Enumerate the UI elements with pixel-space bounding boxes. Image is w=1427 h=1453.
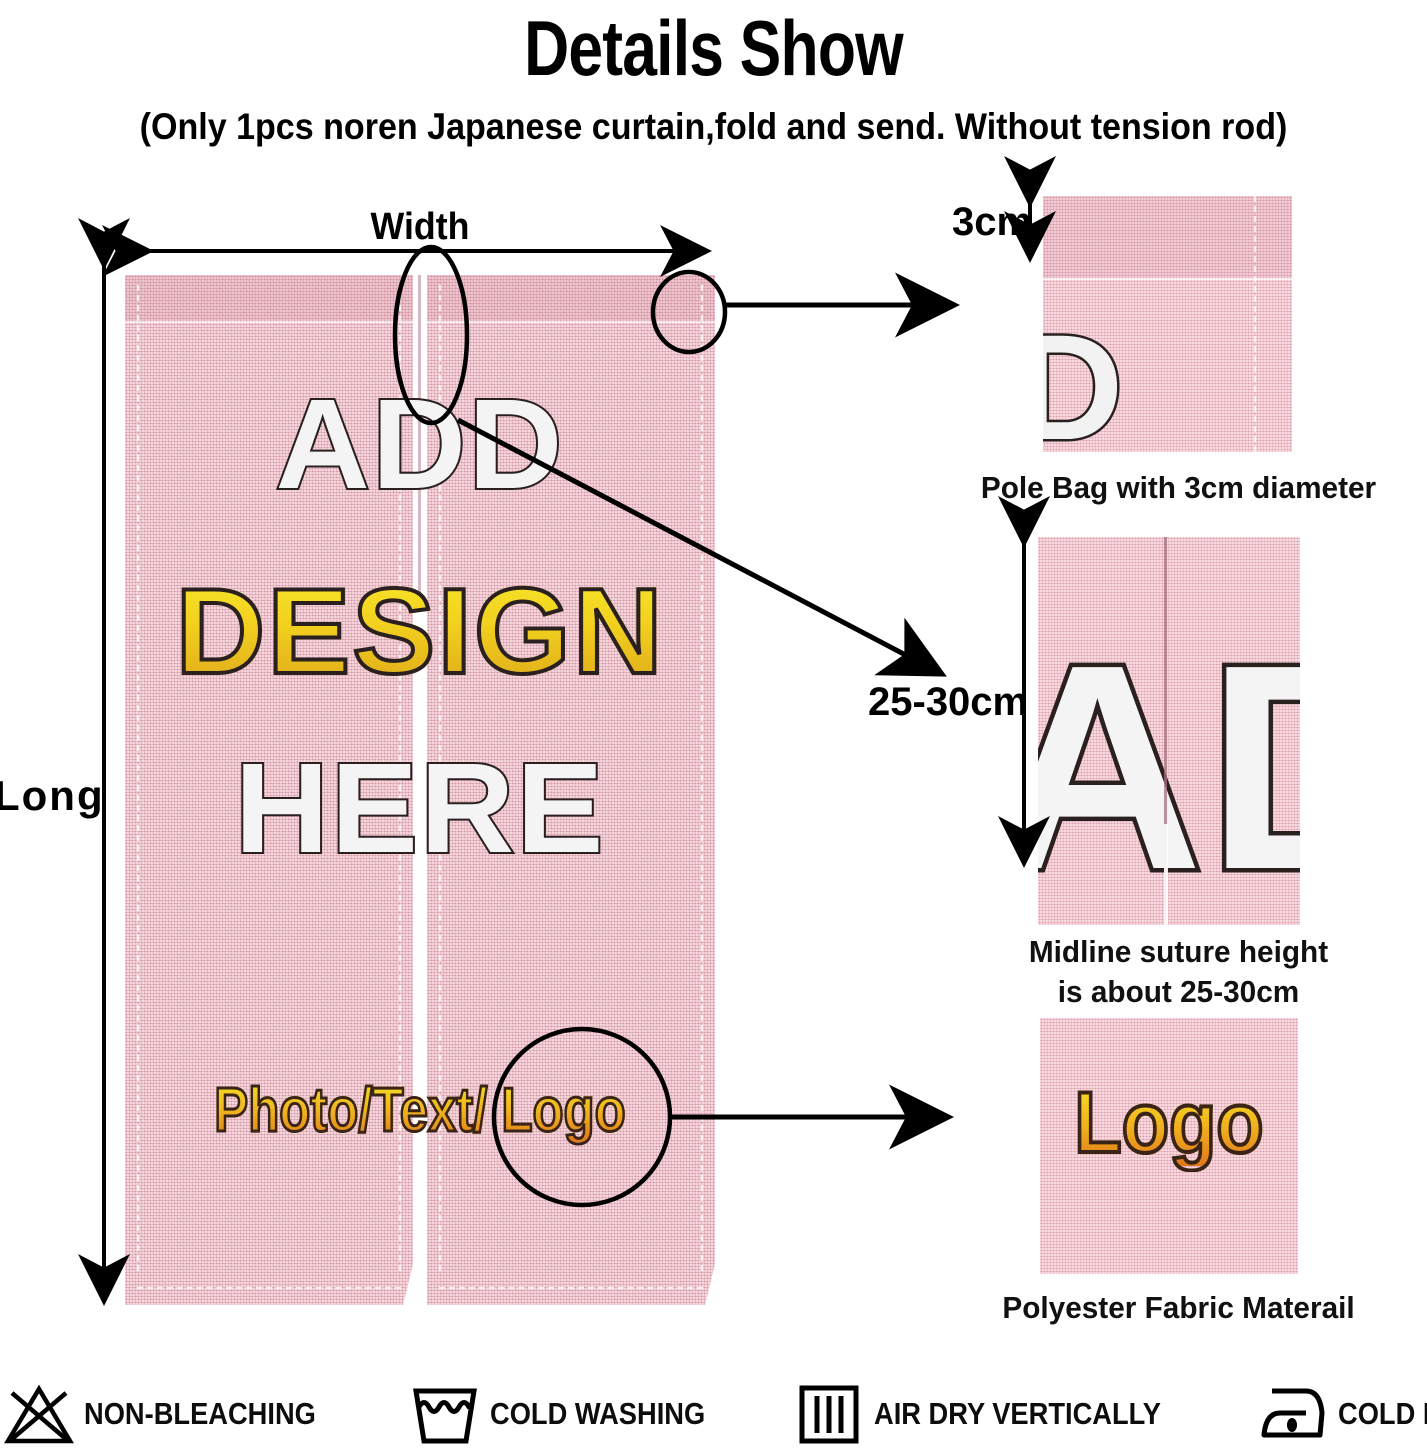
- stitch-line-right: [701, 285, 703, 1271]
- page-subtitle: (Only 1pcs noren Japanese curtain,fold a…: [57, 104, 1370, 150]
- care-instructions-row: NON-BLEACHING COLD WASHING AIR DRY VERTI…: [0, 1378, 1427, 1450]
- letter-fragment: D: [1043, 312, 1123, 452]
- pole-bag-depth-label: 3cm: [952, 200, 1032, 245]
- detail-midline-suture-image: ADD: [1038, 537, 1300, 925]
- pole-bag-seam: [427, 321, 715, 323]
- page-title: Details Show: [143, 4, 1285, 92]
- curtain-left-panel: [125, 275, 413, 1305]
- stitch-line-bottom: [439, 1287, 703, 1289]
- care-item-cold-ironing: COLD IRONING: [1258, 1378, 1427, 1450]
- detail-caption-fabric-material: Polyester Fabric Materail: [940, 1288, 1417, 1328]
- width-label: Width: [25, 206, 815, 249]
- pole-bag-band: [125, 275, 413, 321]
- detail-caption-pole-bag: Pole Bag with 3cm diameter: [940, 468, 1417, 508]
- cold-washing-icon: [410, 1383, 480, 1445]
- detail-pole-bag-image: D: [1043, 196, 1292, 452]
- pole-bag-band: [427, 275, 715, 321]
- care-label: NON-BLEACHING: [84, 1396, 316, 1432]
- care-item-non-bleaching: NON-BLEACHING: [4, 1378, 348, 1450]
- care-label: COLD WASHING: [490, 1396, 705, 1432]
- care-label: AIR DRY VERTICALLY: [874, 1396, 1161, 1432]
- stitch-line-left: [439, 285, 441, 1271]
- stitch-line-right: [399, 285, 401, 1271]
- midline-slit-opening: [1164, 824, 1168, 925]
- detail-caption-midline-suture: Midline suture height is about 25-30cm: [940, 932, 1417, 1012]
- midline-suture-seam: [418, 275, 421, 605]
- caption-line-2: is about 25-30cm: [940, 972, 1417, 1012]
- non-bleaching-icon: [4, 1383, 74, 1445]
- stitch-line-right: [1254, 196, 1256, 452]
- logo-text: Logo: [1053, 1080, 1285, 1166]
- caption-line-1: Midline suture height: [940, 932, 1417, 972]
- stitch-line-bottom: [137, 1287, 401, 1289]
- long-label: Long: [0, 772, 105, 820]
- noren-curtain-illustration: ADD DESIGN HERE Photo/Text/ Logo: [125, 275, 715, 1305]
- care-item-cold-washing: COLD WASHING: [410, 1378, 735, 1450]
- pole-bag-seam: [125, 321, 413, 323]
- midline-height-label: 25-30cm: [868, 680, 1028, 725]
- product-detail-image: Details Show (Only 1pcs noren Japanese c…: [0, 0, 1427, 1453]
- stitch-line-left: [137, 285, 139, 1271]
- letter-fragment: ADD: [1038, 621, 1300, 913]
- cold-ironing-icon: [1258, 1383, 1328, 1445]
- air-dry-vertically-icon: [794, 1383, 864, 1445]
- detail-fabric-material-image: Logo: [1040, 1018, 1298, 1274]
- care-label: COLD IRONING: [1338, 1396, 1427, 1432]
- curtain-right-panel: [427, 275, 715, 1305]
- care-item-air-dry-vertically: AIR DRY VERTICALLY: [794, 1378, 1200, 1450]
